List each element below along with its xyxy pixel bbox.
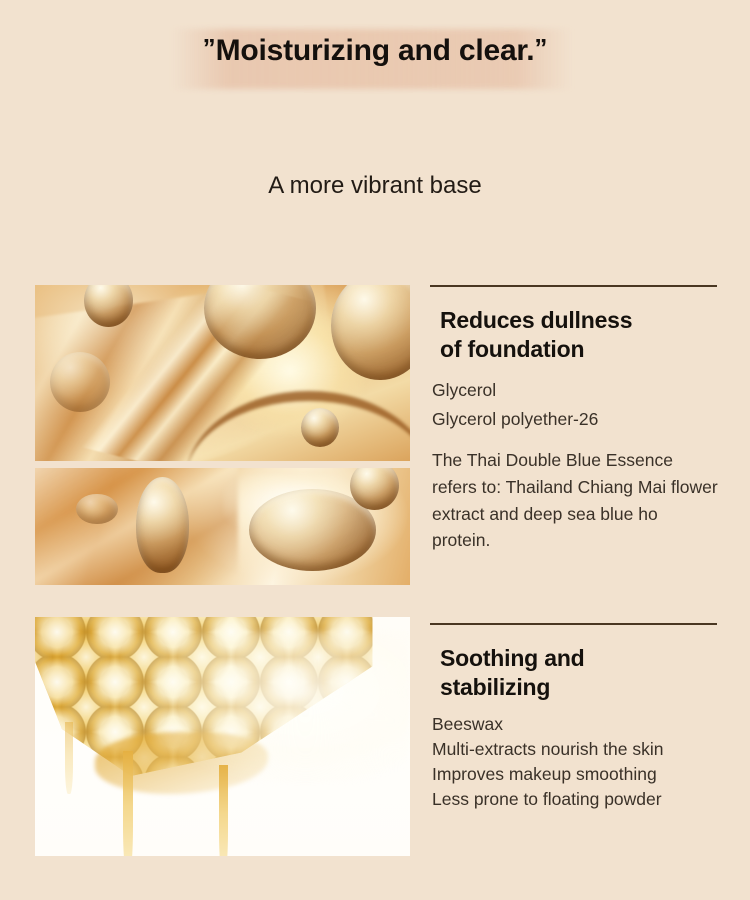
benefit-item: Improves makeup smoothing bbox=[432, 762, 720, 787]
section-divider bbox=[430, 285, 717, 287]
honey-drip bbox=[123, 751, 133, 856]
oil-droplet bbox=[136, 477, 189, 573]
quote-open-mark: ” bbox=[203, 33, 216, 63]
benefit-item: Less prone to floating powder bbox=[432, 787, 720, 812]
honeycomb-sheen bbox=[148, 631, 411, 784]
ingredient-item: Beeswax bbox=[432, 712, 720, 737]
page-title: ”Moisturizing and clear.” bbox=[0, 33, 750, 68]
section-heading: Reduces dullness of foundation bbox=[440, 306, 720, 364]
golden-oil-droplets-macro-image bbox=[35, 285, 410, 461]
product-info-page: { "theme": { "background": "#f2e2cf", "t… bbox=[0, 0, 750, 900]
ingredient-list: Glycerol Glycerol polyether-26 bbox=[432, 376, 720, 433]
section-heading: Soothing and stabilizing bbox=[440, 644, 720, 702]
oil-droplet bbox=[50, 352, 110, 412]
section-divider bbox=[430, 623, 717, 625]
ingredient-item: Glycerol polyether-26 bbox=[432, 405, 720, 434]
page-header: ”Moisturizing and clear.” A more vibrant… bbox=[0, 0, 750, 220]
page-subtitle: A more vibrant base bbox=[0, 172, 750, 200]
honey-drip bbox=[219, 765, 228, 856]
section-heading-line-1: Reduces dullness bbox=[440, 307, 632, 333]
ingredient-item: Glycerol bbox=[432, 376, 720, 405]
section-heading-line-2: of foundation bbox=[440, 336, 584, 362]
section-note: The Thai Double Blue Essence refers to: … bbox=[432, 447, 720, 553]
section-heading-line-1: Soothing and bbox=[440, 645, 585, 671]
benefit-item: Multi-extracts nourish the skin bbox=[432, 737, 720, 762]
benefit-list: Beeswax Multi-extracts nourish the skin … bbox=[432, 712, 720, 812]
quote-close-mark: ” bbox=[534, 33, 547, 63]
page-title-text: Moisturizing and clear. bbox=[216, 34, 535, 67]
golden-oil-bubbles-macro-image bbox=[35, 468, 410, 585]
honey-drip bbox=[65, 722, 73, 794]
section-soothing-stabilizing: Soothing and stabilizing Beeswax Multi-e… bbox=[430, 623, 720, 812]
oil-droplet bbox=[301, 408, 339, 447]
section-reduces-dullness: Reduces dullness of foundation Glycerol … bbox=[430, 285, 720, 554]
content-area: Reduces dullness of foundation Glycerol … bbox=[0, 220, 750, 900]
honeycomb-dripping-honey-image bbox=[35, 617, 410, 856]
oil-droplet bbox=[76, 494, 117, 524]
section-heading-line-2: stabilizing bbox=[440, 674, 550, 700]
